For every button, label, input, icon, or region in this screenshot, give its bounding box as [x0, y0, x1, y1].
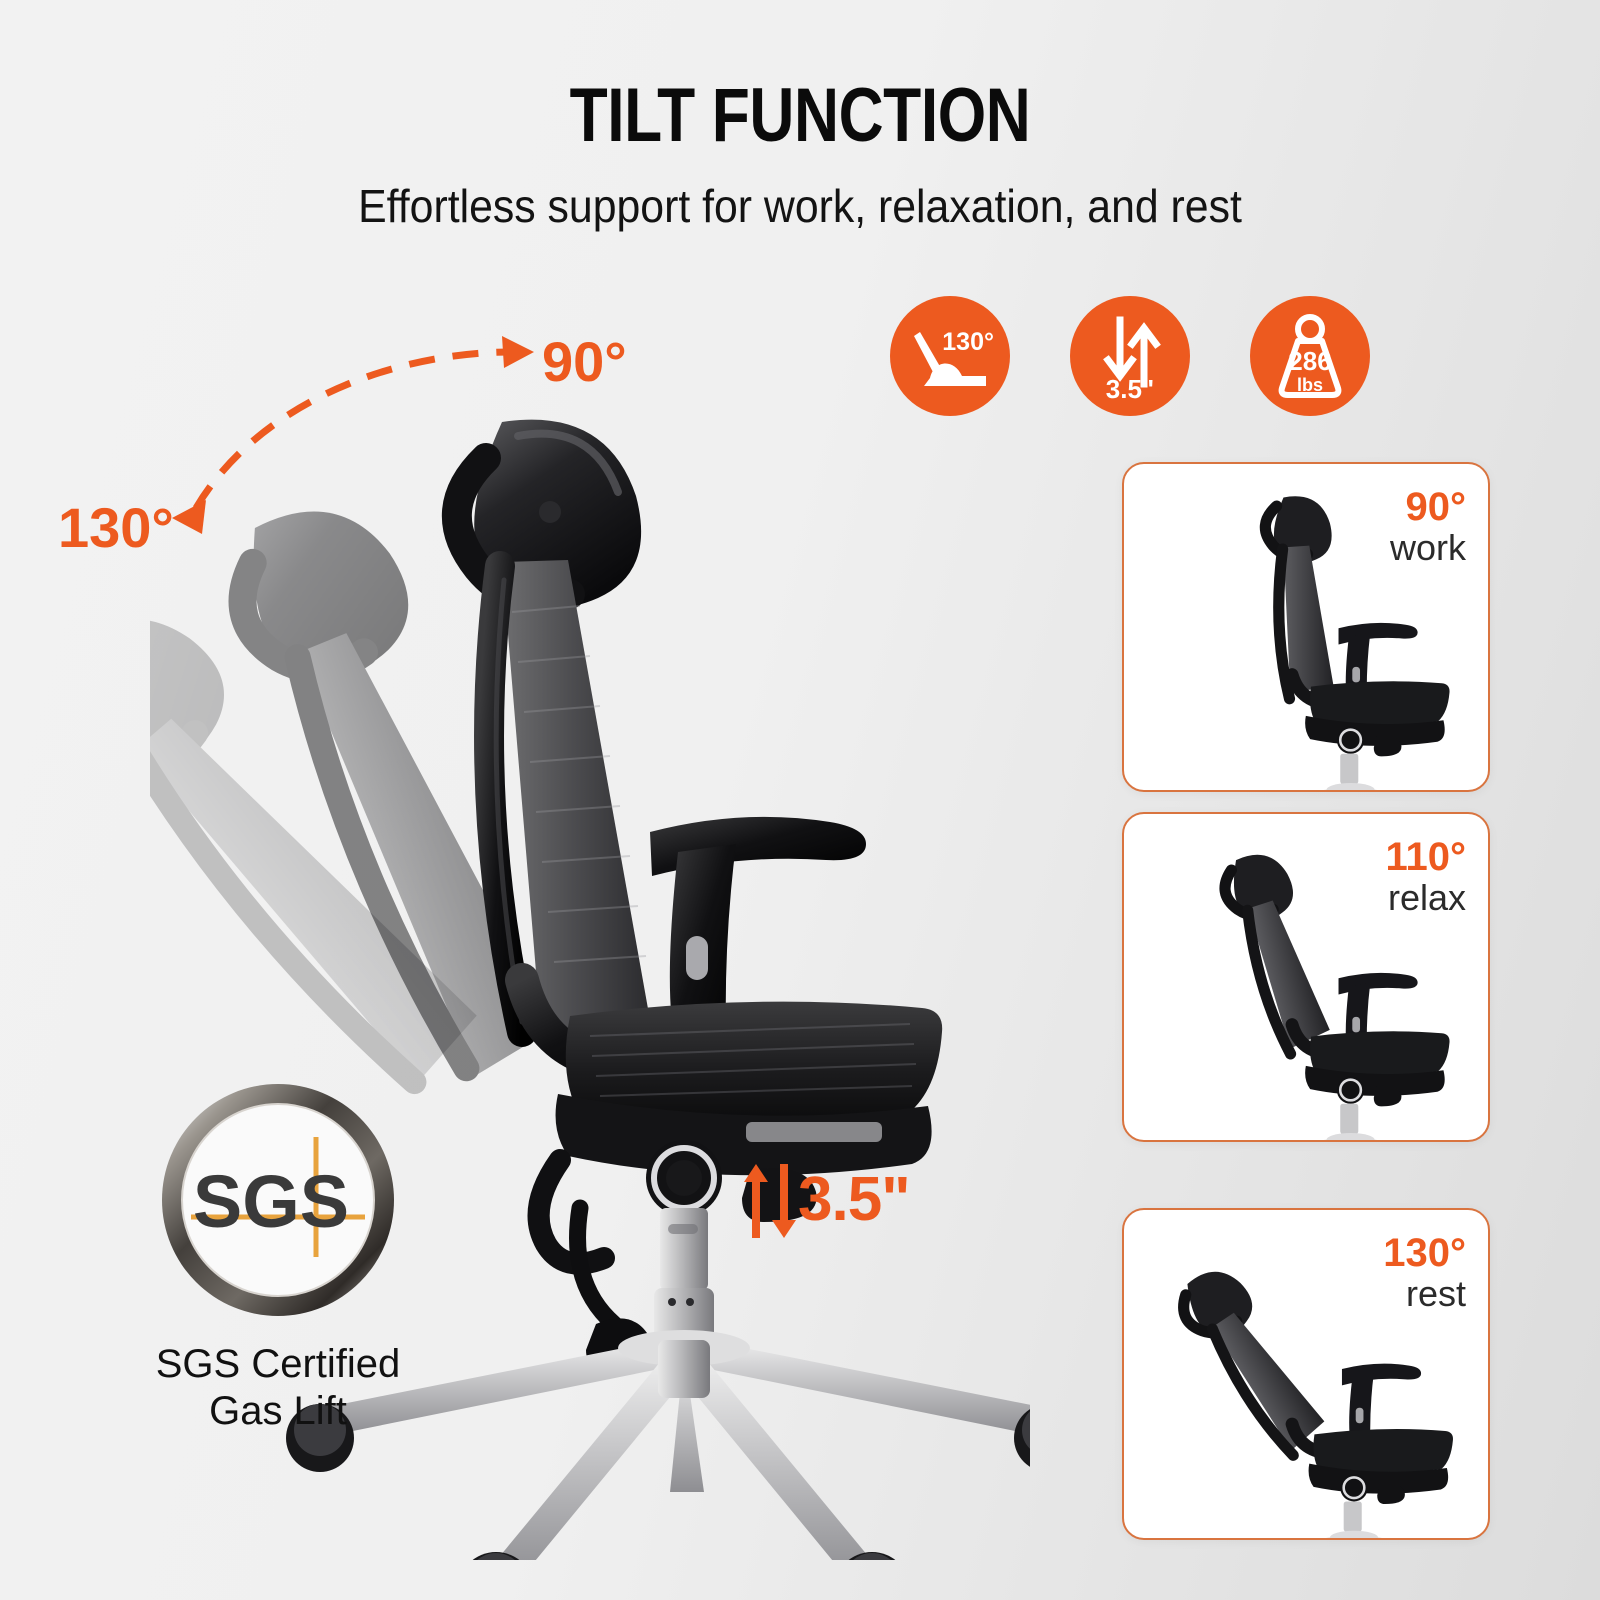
position-card-angle: 90° [1390, 486, 1466, 528]
position-card-mode: work [1390, 528, 1466, 568]
page-subtitle: Effortless support for work, relaxation,… [56, 179, 1544, 233]
badge-recline-value: 130° [942, 330, 994, 355]
page-title: TILT FUNCTION [144, 72, 1456, 159]
position-card-labels: 130° rest [1383, 1232, 1466, 1314]
sgs-logo: SGS [153, 1075, 403, 1325]
sgs-logo-text: SGS [193, 1160, 349, 1243]
badge-weight-capacity: 286 lbs [1250, 296, 1370, 416]
chair-seat [556, 1002, 943, 1176]
position-card-labels: 90° work [1390, 486, 1466, 568]
position-card-labels: 110° relax [1385, 836, 1466, 918]
arrow-head-right [502, 336, 534, 368]
up-down-arrows-icon [740, 1158, 796, 1242]
sgs-caption: SGS Certified Gas Lift [118, 1341, 438, 1435]
position-card-relax[interactable]: 110° relax [1122, 812, 1490, 1142]
badge-weight-unit: lbs [1297, 376, 1323, 394]
position-card-angle: 130° [1383, 1232, 1466, 1274]
badge-weight-value: 286 [1288, 348, 1331, 374]
position-card-mode: relax [1385, 878, 1466, 918]
badge-height-adjust: 3.5" [1070, 296, 1190, 416]
position-card-rest[interactable]: 130° rest [1122, 1208, 1490, 1540]
sgs-caption-line2: Gas Lift [118, 1388, 438, 1435]
height-adjust-value: 3.5" [798, 1169, 910, 1231]
sgs-certification-block: SGS SGS Certified Gas Lift [118, 1075, 438, 1435]
position-card-mode: rest [1383, 1274, 1466, 1314]
badge-height-value: 3.5" [1106, 376, 1154, 402]
sgs-caption-line1: SGS Certified [118, 1341, 438, 1388]
position-card-work[interactable]: 90° work [1122, 462, 1490, 792]
header: TILT FUNCTION Effortless support for wor… [0, 0, 1600, 233]
position-card-angle: 110° [1385, 836, 1466, 878]
height-adjust-annotation: 3.5" [740, 1158, 910, 1242]
